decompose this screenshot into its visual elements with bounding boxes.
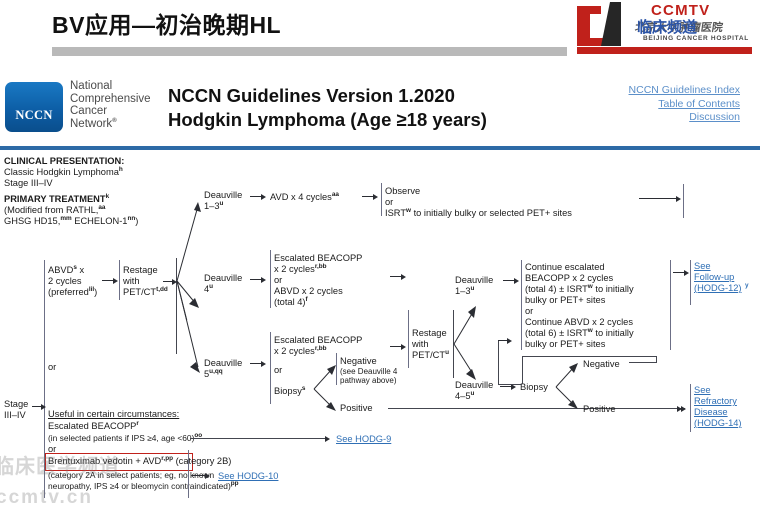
observe-line1: Observe xyxy=(385,186,420,197)
escalated2-biopsy: Biopsys xyxy=(274,386,305,397)
line-neg-loop-back xyxy=(522,356,656,357)
abvd-line1: ABVDs x xyxy=(48,265,84,276)
biopsy1-positive-label: Positive xyxy=(340,403,373,414)
hodg10-rule xyxy=(188,450,189,498)
deauville-1-3-line2: 1–3u xyxy=(204,201,223,212)
link-table-of-contents[interactable]: Table of Contents xyxy=(629,98,740,112)
continue-line3: (total 4) ± ISRTw to initially xyxy=(525,284,634,295)
primary-treatment-line3: GHSG HD15,mm ECHELON-1nn) xyxy=(4,216,138,227)
logo-divider xyxy=(577,47,752,54)
see-followup-line1[interactable]: See xyxy=(694,261,711,272)
restage2-line3: PET/CTu xyxy=(412,350,449,361)
line-neg-loop-enter xyxy=(498,384,522,385)
link-discussion[interactable]: Discussion xyxy=(629,111,740,125)
useful-line3: (in selected patients if IPS ≥4, age <60… xyxy=(48,433,202,444)
useful-line6: (category 2A in select patients; eg, no … xyxy=(48,470,214,481)
restage1-line3: PET/CTt,dd xyxy=(123,287,168,298)
continue-line1: Continue escalated xyxy=(525,262,605,273)
escalated1-line2: x 2 cyclesr,bb xyxy=(274,264,327,275)
see-refractory-line2[interactable]: Refractory xyxy=(694,396,737,407)
escalated1-rule xyxy=(270,250,271,308)
see-hodg9-link[interactable]: See HODG-9 xyxy=(336,434,391,445)
continue-line8: bulky or PET+ sites xyxy=(525,339,605,350)
deauville-4-line2: 4u xyxy=(204,284,213,295)
restage1-branch-down xyxy=(176,281,216,401)
nccn-header: NCCN National Comprehensive Cancer Netwo… xyxy=(0,70,760,148)
observe-or: or xyxy=(385,197,393,208)
nccn-link-list[interactable]: NCCN Guidelines Index Table of Contents … xyxy=(629,84,740,125)
abvd-line3: (preferredlil) xyxy=(48,287,97,298)
line-neg-loop-left xyxy=(522,356,523,384)
biopsy2-positive-label: Positive xyxy=(583,404,616,415)
observe-out-rule xyxy=(683,184,684,218)
observe-isrt: ISRTw to initially bulky or selected PET… xyxy=(385,208,572,219)
escalated2-line2: x 2 cyclesr,bb xyxy=(274,346,327,357)
line-neg-loop-riser xyxy=(498,340,499,385)
nccn-disease-line: Hodgkin Lymphoma (Age ≥18 years) xyxy=(168,108,487,132)
biopsy2-negative-label: Negative xyxy=(583,359,620,370)
clinical-presentation-heading: CLINICAL PRESENTATION: xyxy=(4,156,124,167)
escalated2-rule xyxy=(270,332,271,404)
continue-or: or xyxy=(525,306,533,317)
see-followup-sup: y xyxy=(745,281,749,292)
nccn-logo: NCCN xyxy=(5,82,63,132)
see-refractory-line3[interactable]: Disease xyxy=(694,407,728,418)
biopsy2-label: Biopsy xyxy=(520,382,548,393)
nccn-org-name: National Comprehensive Cancer Network® xyxy=(70,80,151,130)
continue-block-right-rule xyxy=(670,260,671,350)
restage1-line2: with xyxy=(123,276,140,287)
page-title: BV应用—初治晚期HL xyxy=(52,6,281,40)
useful-line7: neuropathy, IPS ≥4 or bleomycin contrain… xyxy=(48,481,239,492)
line-biopsy2-positive xyxy=(629,408,681,409)
restage1-line1: Restage xyxy=(123,265,158,276)
negative-branch-rule xyxy=(336,353,337,385)
stage-left-line2: III–IV xyxy=(4,410,26,421)
restage2-line1: Restage xyxy=(412,328,447,339)
deauville-1-3b-line2: 1–3u xyxy=(455,286,474,297)
nccn-guideline-heading: NCCN Guidelines Version 1.2020 Hodgkin L… xyxy=(168,84,487,132)
stage-left-line1: Stage xyxy=(4,399,28,410)
nccn-org-line-4: Network® xyxy=(70,118,151,131)
restage2-line2: with xyxy=(412,339,429,350)
primary-treatment-heading: PRIMARY TREATMENTk xyxy=(4,194,109,205)
nccn-org-line-1: National xyxy=(70,80,151,93)
ccmtv-logo: CCMTV 北京大学肿瘤医院 临床频道 BEIJING CANCER HOSPI… xyxy=(577,2,752,57)
biopsy2-branch-lines xyxy=(554,363,582,409)
biopsy1-negative-note2: pathway above) xyxy=(340,376,396,387)
continue-line2: BEACOPP x 2 cycles xyxy=(525,273,613,284)
escalated1-line5: (total 4)f xyxy=(274,297,308,308)
title-divider xyxy=(52,47,567,56)
see-refractory-line4[interactable]: (HODG-14) xyxy=(694,418,742,429)
nccn-org-line-2: Comprehensive xyxy=(70,93,151,106)
clinical-presentation-line3: Stage III–IV xyxy=(4,178,53,189)
ccmtv-logo-mark xyxy=(577,2,633,46)
line-neg-loop-drop xyxy=(656,356,657,363)
continue-line7: (total 6) ± ISRTw to initially xyxy=(525,328,634,339)
see-followup-rule xyxy=(690,260,691,305)
restage2-rule xyxy=(408,310,409,368)
deauville-4-5-line2: 4–5u xyxy=(455,391,474,402)
continue-line6: Continue ABVD x 2 cycles xyxy=(525,317,633,328)
continue-line4: bulky or PET+ sites xyxy=(525,295,605,306)
treatment-algorithm-flowchart: CLINICAL PRESENTATION: Classic Hodgkin L… xyxy=(0,150,760,527)
biopsy1-negative-label: Negative xyxy=(340,356,377,367)
primary-treatment-line2: (Modified from RATHL,aa xyxy=(4,205,105,216)
line-neg-loop-top xyxy=(629,362,656,363)
line-to-hodg9 xyxy=(190,438,328,439)
escalated2-or: or xyxy=(274,365,282,376)
see-hodg10-link[interactable]: See HODG-10 xyxy=(218,471,278,482)
observe-rule xyxy=(381,183,382,216)
avd-4-cycles: AVD x 4 cyclesaa xyxy=(270,192,339,203)
clinical-presentation-line2: Classic Hodgkin Lymphomah xyxy=(4,167,123,178)
escalated1-or: or xyxy=(274,275,282,286)
useful-line2: Escalated BEACOPPr xyxy=(48,421,139,432)
channel-name-cn: 临床频道 xyxy=(637,16,697,37)
hospital-name-en: BEIJING CANCER HOSPITAL xyxy=(643,35,749,42)
restage2-branch-lines xyxy=(453,290,493,380)
see-followup-line3[interactable]: (HODG-12) xyxy=(694,283,742,294)
presentation-slide: BV应用—初治晚期HL CCMTV 北京大学肿瘤医院 临床频道 BEIJING … xyxy=(0,0,760,527)
see-refractory-line1[interactable]: See xyxy=(694,385,711,396)
see-followup-line2[interactable]: Follow-up xyxy=(694,272,734,283)
nccn-org-line-3: Cancer xyxy=(70,105,151,118)
escalated1-line4: ABVD x 2 cycles xyxy=(274,286,343,297)
abvd-or-label: or xyxy=(48,362,56,373)
useful-line5: Brentuximab vedotin + AVDr,pp (category … xyxy=(48,456,231,467)
deauville-5-line2: 5u,qq xyxy=(204,369,223,380)
continue-block-rule xyxy=(521,260,522,350)
nccn-logo-text: NCCN xyxy=(5,108,63,123)
link-guidelines-index[interactable]: NCCN Guidelines Index xyxy=(629,84,740,98)
useful-heading: Useful in certain circumstances: xyxy=(48,409,179,420)
see-refractory-rule xyxy=(690,384,691,432)
nccn-version-line: NCCN Guidelines Version 1.2020 xyxy=(168,84,487,108)
restage1-rule xyxy=(119,260,120,300)
abvd-line2: 2 cycles xyxy=(48,276,82,287)
